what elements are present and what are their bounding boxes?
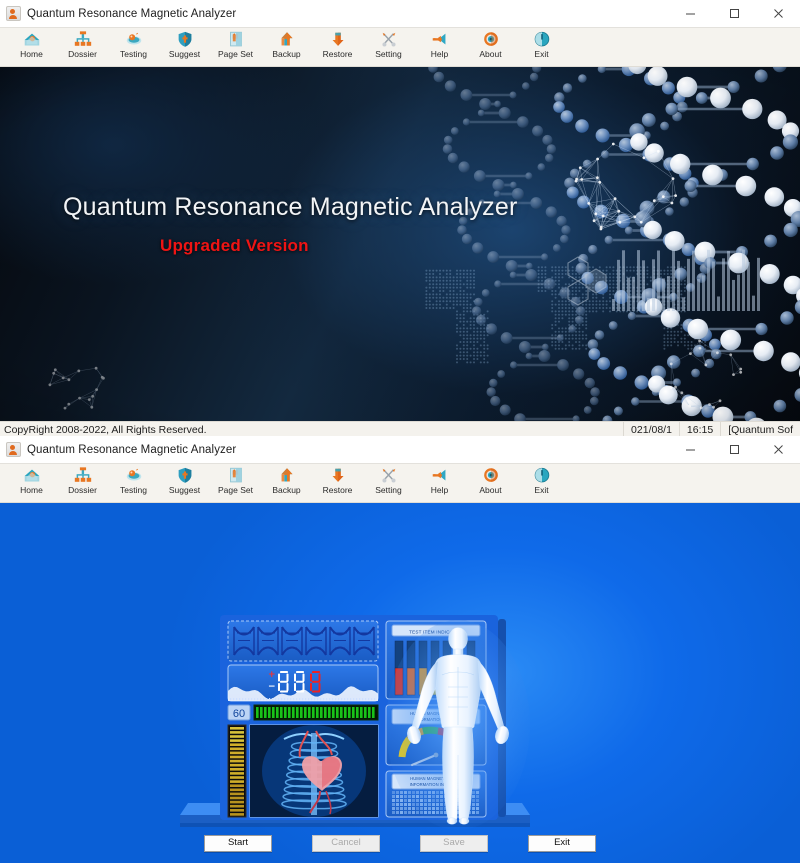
toolbar-item-label: Setting [375,49,401,59]
toolbar-item-label: Restore [323,485,353,495]
app-icon [6,442,21,457]
toolbar-item-label: Page Set [218,49,253,59]
dossier-icon [73,30,93,48]
toolbar-item-label: Restore [323,49,353,59]
toolbar-item-page-set[interactable]: Page Set [210,28,261,66]
network-sphere-icon [566,133,686,243]
setting-tools-icon [379,30,399,48]
toolbar-item-label: Suggest [169,485,200,495]
toolbar-item-label: Dossier [68,49,97,59]
backup-up-arrow-icon [277,30,297,48]
numeric-readout-panel: + − [228,665,378,701]
window-testing: Quantum Resonance Magnetic Analyzer Home… [0,436,800,850]
svg-text:60: 60 [233,708,245,720]
banner-artwork: Quantum Resonance Magnetic Analyzer Upgr… [0,67,800,421]
toolbar-item-dossier[interactable]: Dossier [57,464,108,502]
toolbar-item-label: Testing [120,49,147,59]
toolbar-item-backup[interactable]: Backup [261,464,312,502]
toolbar-item-label: Testing [120,485,147,495]
toolbar-item-label: About [479,49,501,59]
toolbar-item-label: Backup [272,485,300,495]
toolbar-item-backup[interactable]: Backup [261,28,312,66]
toolbar-item-restore[interactable]: Restore [312,464,363,502]
vertical-level-meter [228,725,246,817]
window2-toolbar: HomeDossierTestingSuggestPage SetBackupR… [0,464,800,503]
toolbar-item-label: Home [20,485,43,495]
close-button[interactable] [756,0,800,27]
about-target-icon [481,30,501,48]
svg-text:+: + [268,670,276,680]
toolbar-item-help[interactable]: Help [414,464,465,502]
about-target-icon [481,466,501,484]
cancel-button: Cancel [312,835,380,852]
maximize-button[interactable] [712,0,756,27]
app-icon [6,6,21,21]
toolbar-item-label: Backup [272,49,300,59]
restore-down-arrow-icon [328,30,348,48]
exit-power-icon [532,466,552,484]
testing-icon [124,466,144,484]
dna-wave-panel [228,621,378,661]
toolbar-item-help[interactable]: Help [414,28,465,66]
dossier-icon [73,466,93,484]
toolbar-item-testing[interactable]: Testing [108,464,159,502]
help-pin-icon [430,466,450,484]
toolbar-item-testing[interactable]: Testing [108,28,159,66]
testing-icon [124,30,144,48]
banner-subheadline: Upgraded Version [160,236,309,256]
toolbar-item-setting[interactable]: Setting [363,28,414,66]
toolbar-item-setting[interactable]: Setting [363,464,414,502]
home-icon [22,30,42,48]
toolbar-item-page-set[interactable]: Page Set [210,464,261,502]
toolbar-item-label: Help [431,49,448,59]
equalizer-bars-graphic [612,241,762,311]
action-button-row: StartCancelSaveExit [0,835,800,857]
toolbar-item-label: About [479,485,501,495]
toolbar-item-label: Setting [375,485,401,495]
svg-text:−: − [268,682,276,692]
window1-controls [668,0,800,27]
toolbar-item-label: Exit [534,49,548,59]
toolbar-item-label: Page Set [218,485,253,495]
toolbar-item-label: Dossier [68,485,97,495]
banner-headline: Quantum Resonance Magnetic Analyzer [63,193,517,222]
home-icon [22,466,42,484]
window-main: Quantum Resonance Magnetic Analyzer Home… [0,0,800,436]
window2-title: Quantum Resonance Magnetic Analyzer [27,444,236,456]
backup-up-arrow-icon [277,466,297,484]
maximize-button[interactable] [712,436,756,463]
testing-workspace: + − 60 [0,503,800,863]
window1-title: Quantum Resonance Magnetic Analyzer [27,8,236,20]
toolbar-item-exit[interactable]: Exit [516,28,567,66]
start-button[interactable]: Start [204,835,272,852]
toolbar-item-about[interactable]: About [465,28,516,66]
window2-titlebar[interactable]: Quantum Resonance Magnetic Analyzer [0,436,800,464]
timer-and-progress: 60 [228,705,378,720]
save-button: Save [420,835,488,852]
toolbar-item-exit[interactable]: Exit [516,464,567,502]
window2-controls [668,436,800,463]
window1-toolbar: HomeDossierTestingSuggestPage SetBackupR… [0,28,800,67]
human-torso-scan-screen [250,725,378,817]
toolbar-item-home[interactable]: Home [6,464,57,502]
toolbar-item-label: Help [431,485,448,495]
toolbar-item-dossier[interactable]: Dossier [57,28,108,66]
close-button[interactable] [756,436,800,463]
toolbar-item-suggest[interactable]: Suggest [159,464,210,502]
toolbar-item-suggest[interactable]: Suggest [159,28,210,66]
window1-titlebar[interactable]: Quantum Resonance Magnetic Analyzer [0,0,800,28]
exit-power-icon [532,30,552,48]
network-sphere-small-icon [660,335,750,415]
toolbar-item-label: Suggest [169,49,200,59]
suggest-shield-icon [175,30,195,48]
analyzer-device-panel: + − 60 [180,615,540,845]
toolbar-item-about[interactable]: About [465,464,516,502]
exit-button[interactable]: Exit [528,835,596,852]
help-pin-icon [430,30,450,48]
toolbar-item-label: Exit [534,485,548,495]
setting-tools-icon [379,466,399,484]
toolbar-item-label: Home [20,49,43,59]
screenshot-root: Quantum Resonance Magnetic Analyzer Home… [0,0,800,850]
page-set-icon [226,30,246,48]
toolbar-item-restore[interactable]: Restore [312,28,363,66]
human-body-figure [386,620,530,830]
suggest-shield-icon [175,466,195,484]
molecule-cluster-icon [42,353,112,415]
restore-down-arrow-icon [328,466,348,484]
minimize-button[interactable] [668,0,712,27]
minimize-button[interactable] [668,436,712,463]
copyright-text: CopyRight 2008-2022, All Rights Reserved… [0,424,207,436]
page-set-icon [226,466,246,484]
toolbar-item-home[interactable]: Home [6,28,57,66]
